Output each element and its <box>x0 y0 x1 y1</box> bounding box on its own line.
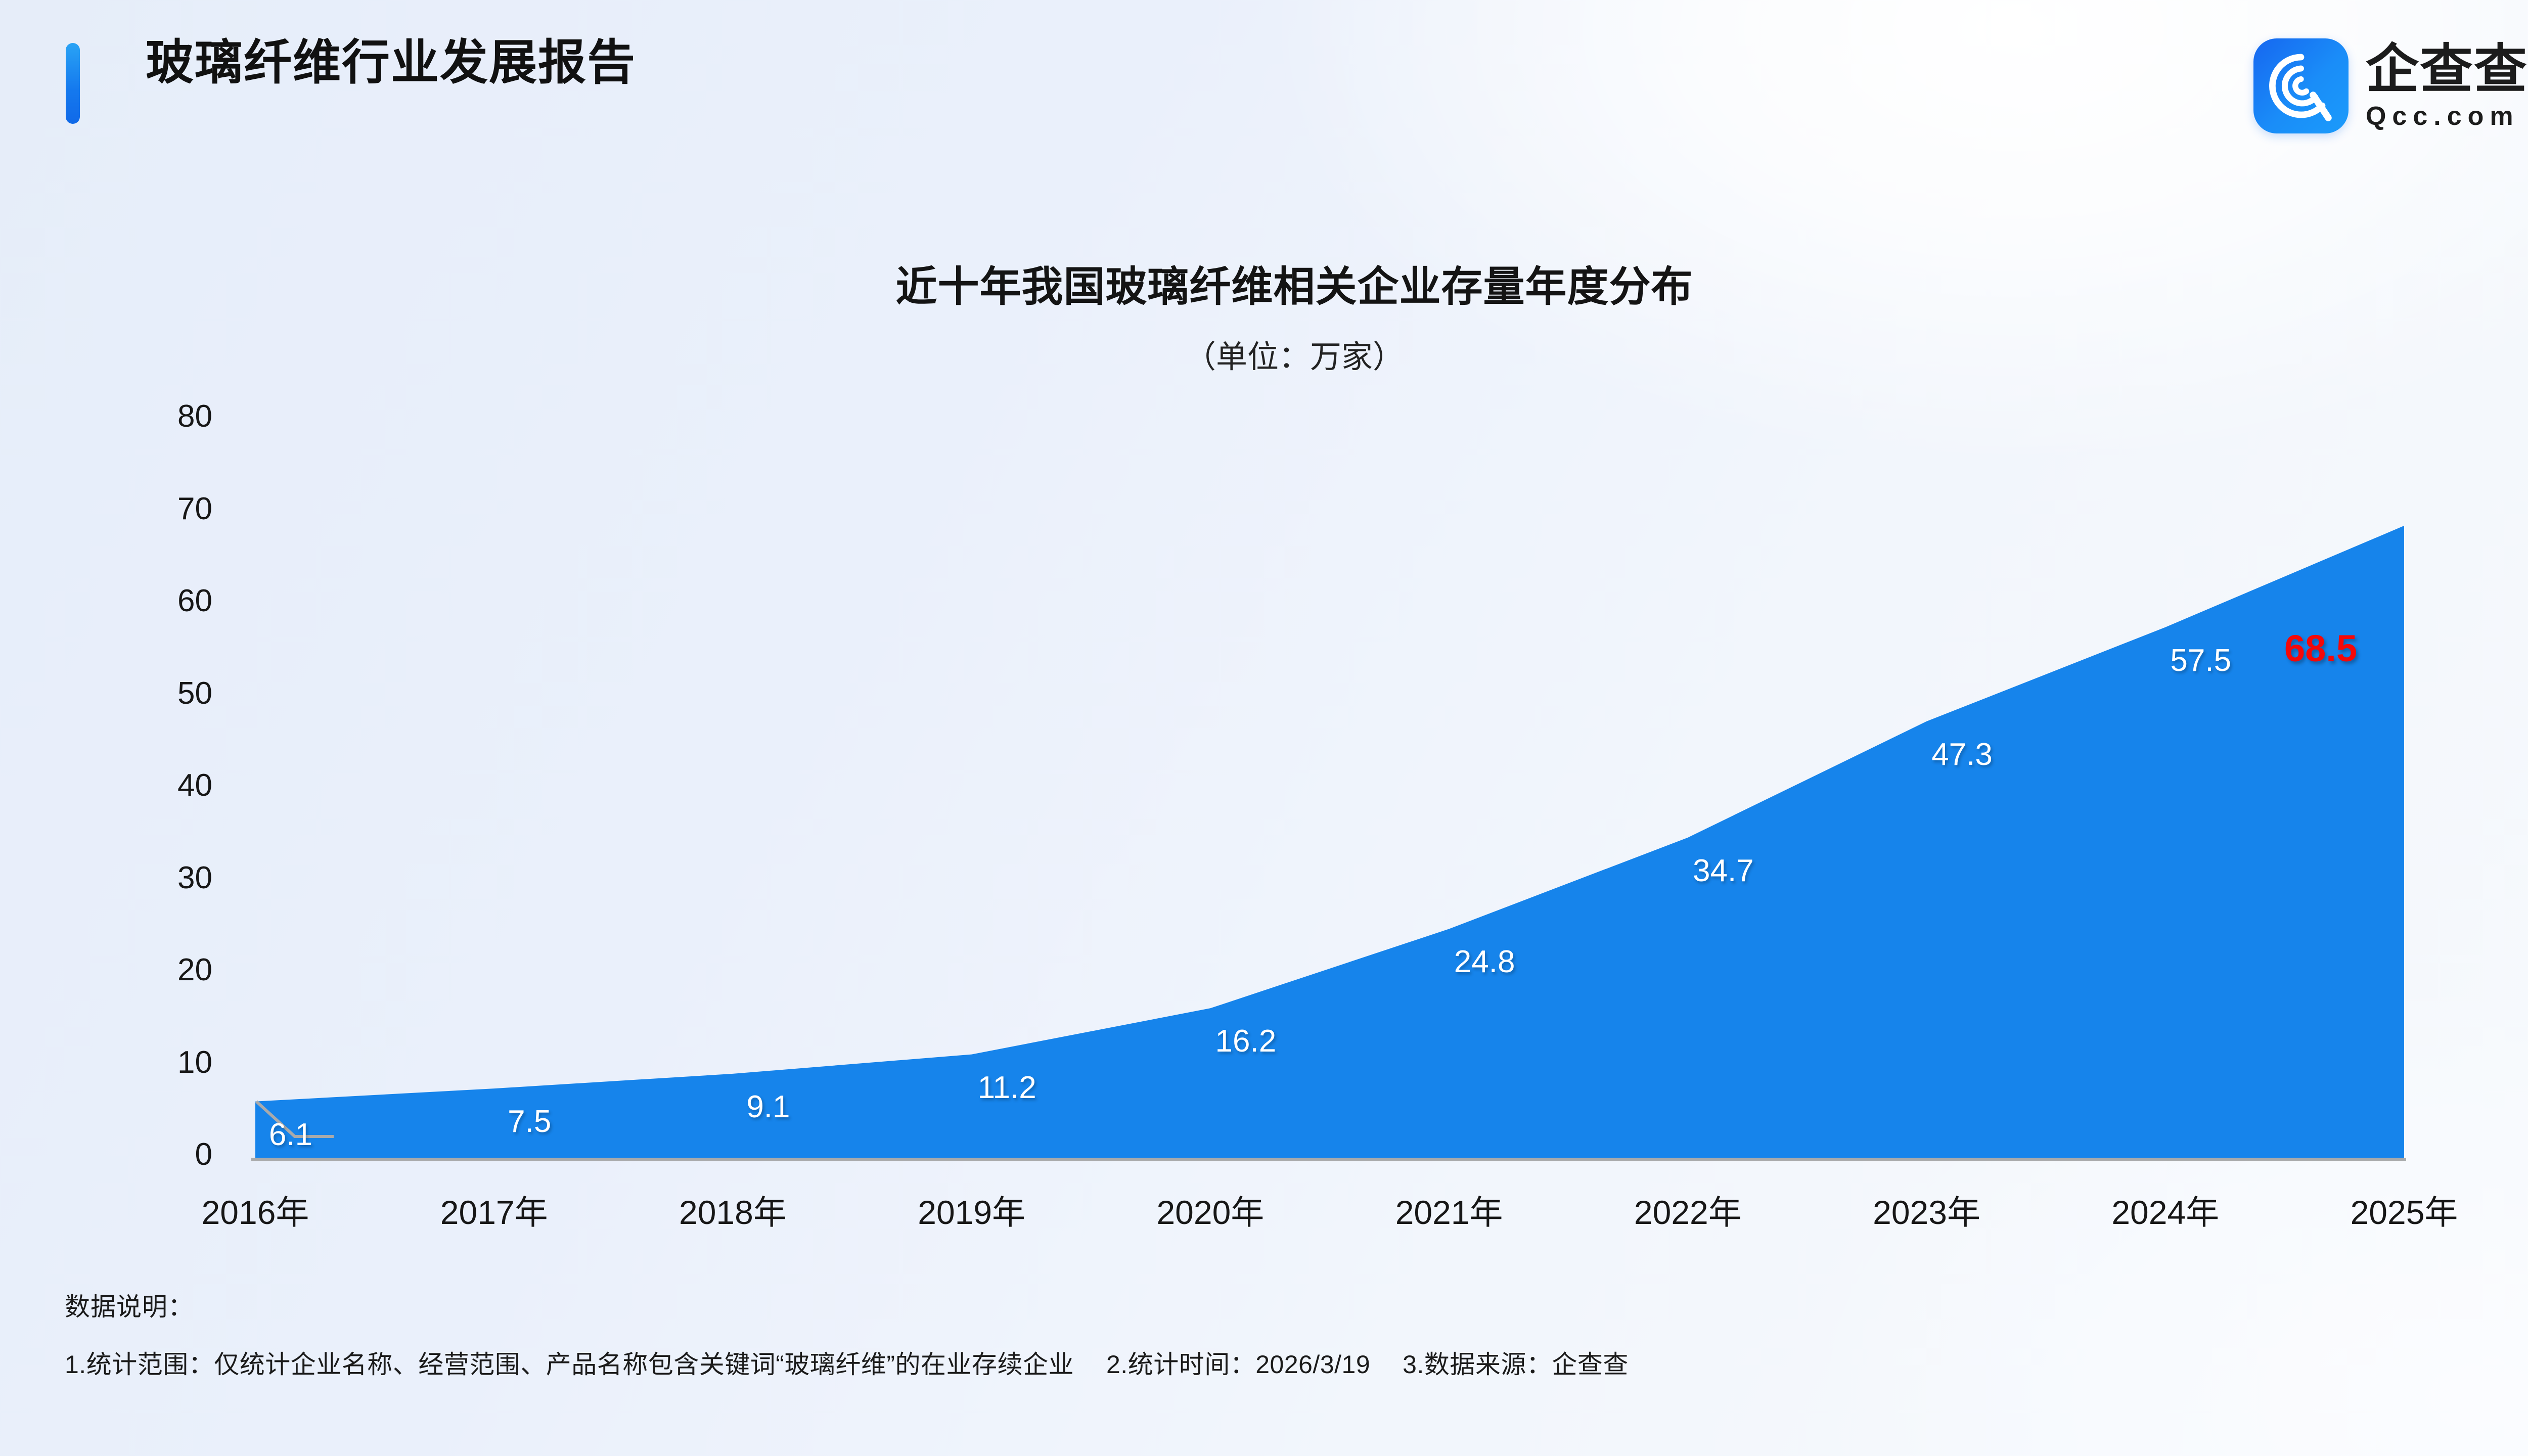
x-axis-tick-2022年: 2022年 <box>1582 1186 1794 1234</box>
brand-name-cn: 企查查 <box>2366 43 2528 96</box>
y-axis-tick-20: 20 <box>91 952 212 988</box>
y-axis-tick-60: 60 <box>91 583 212 619</box>
chart-subtitle: （单位：万家） <box>0 331 2528 377</box>
y-axis-tick-80: 80 <box>91 398 212 434</box>
note-item-2: 2.统计时间：2026/3/19 <box>1106 1350 1370 1379</box>
x-axis-tick-2016年: 2016年 <box>149 1186 362 1234</box>
y-axis-tick-40: 40 <box>91 767 212 803</box>
x-axis-tick-2019年: 2019年 <box>866 1186 1078 1234</box>
data-label-2018年: 9.1 <box>687 1089 849 1125</box>
qcc-spiral-q-icon <box>2253 38 2349 133</box>
data-label-2025年: 68.5 <box>2240 627 2402 670</box>
data-notes: 数据说明： 1.统计范围：仅统计企业名称、经营范围、产品名称包含关键词“玻璃纤维… <box>65 1287 2528 1381</box>
y-axis-tick-30: 30 <box>91 860 212 896</box>
chart-title: 近十年我国玻璃纤维相关企业存量年度分布 <box>0 253 2528 313</box>
note-item-1: 1.统计范围：仅统计企业名称、经营范围、产品名称包含关键词“玻璃纤维”的在业存续… <box>65 1350 1074 1379</box>
y-axis-tick-50: 50 <box>91 675 212 711</box>
data-label-2023年: 47.3 <box>1881 737 2043 772</box>
y-axis-tick-70: 70 <box>91 491 212 527</box>
notes-heading: 数据说明： <box>65 1287 2528 1323</box>
notes-body: 1.统计范围：仅统计企业名称、经营范围、产品名称包含关键词“玻璃纤维”的在业存续… <box>65 1344 2528 1381</box>
data-label-2019年: 11.2 <box>926 1070 1088 1106</box>
page-title: 玻璃纤维行业发展报告 <box>146 35 636 90</box>
page-root: 玻璃纤维行业发展报告 企查查 Qcc.com 近十年我国玻璃纤维相关企业存量年度… <box>0 0 2528 1456</box>
area-chart-plot <box>0 0 2528 1456</box>
x-axis-tick-2023年: 2023年 <box>1821 1186 2033 1234</box>
y-axis-tick-10: 10 <box>91 1044 212 1080</box>
x-axis-tick-2025年: 2025年 <box>2298 1186 2510 1234</box>
data-label-2021年: 24.8 <box>1404 944 1565 980</box>
x-axis-tick-2024年: 2024年 <box>2059 1186 2272 1234</box>
y-axis-tick-0: 0 <box>91 1136 212 1172</box>
data-label-2022年: 34.7 <box>1642 853 1804 889</box>
page-header: 玻璃纤维行业发展报告 企查查 Qcc.com <box>0 0 2528 167</box>
data-label-2016年: 6.1 <box>210 1117 372 1153</box>
data-label-2020年: 16.2 <box>1165 1023 1327 1059</box>
x-axis-tick-2018年: 2018年 <box>626 1186 839 1234</box>
note-item-3: 3.数据来源：企查查 <box>1403 1350 1629 1379</box>
brand-logo-text: 企查查 Qcc.com <box>2366 43 2528 129</box>
brand-logo[interactable]: 企查查 Qcc.com <box>2253 35 2528 136</box>
data-label-2017年: 7.5 <box>448 1104 610 1140</box>
x-axis-tick-2021年: 2021年 <box>1343 1186 1555 1234</box>
x-axis-tick-2020年: 2020年 <box>1104 1186 1317 1234</box>
area-series-fill <box>255 526 2404 1158</box>
x-axis-tick-2017年: 2017年 <box>388 1186 600 1234</box>
brand-name-en: Qcc.com <box>2366 103 2528 129</box>
title-accent-bar <box>66 43 80 124</box>
